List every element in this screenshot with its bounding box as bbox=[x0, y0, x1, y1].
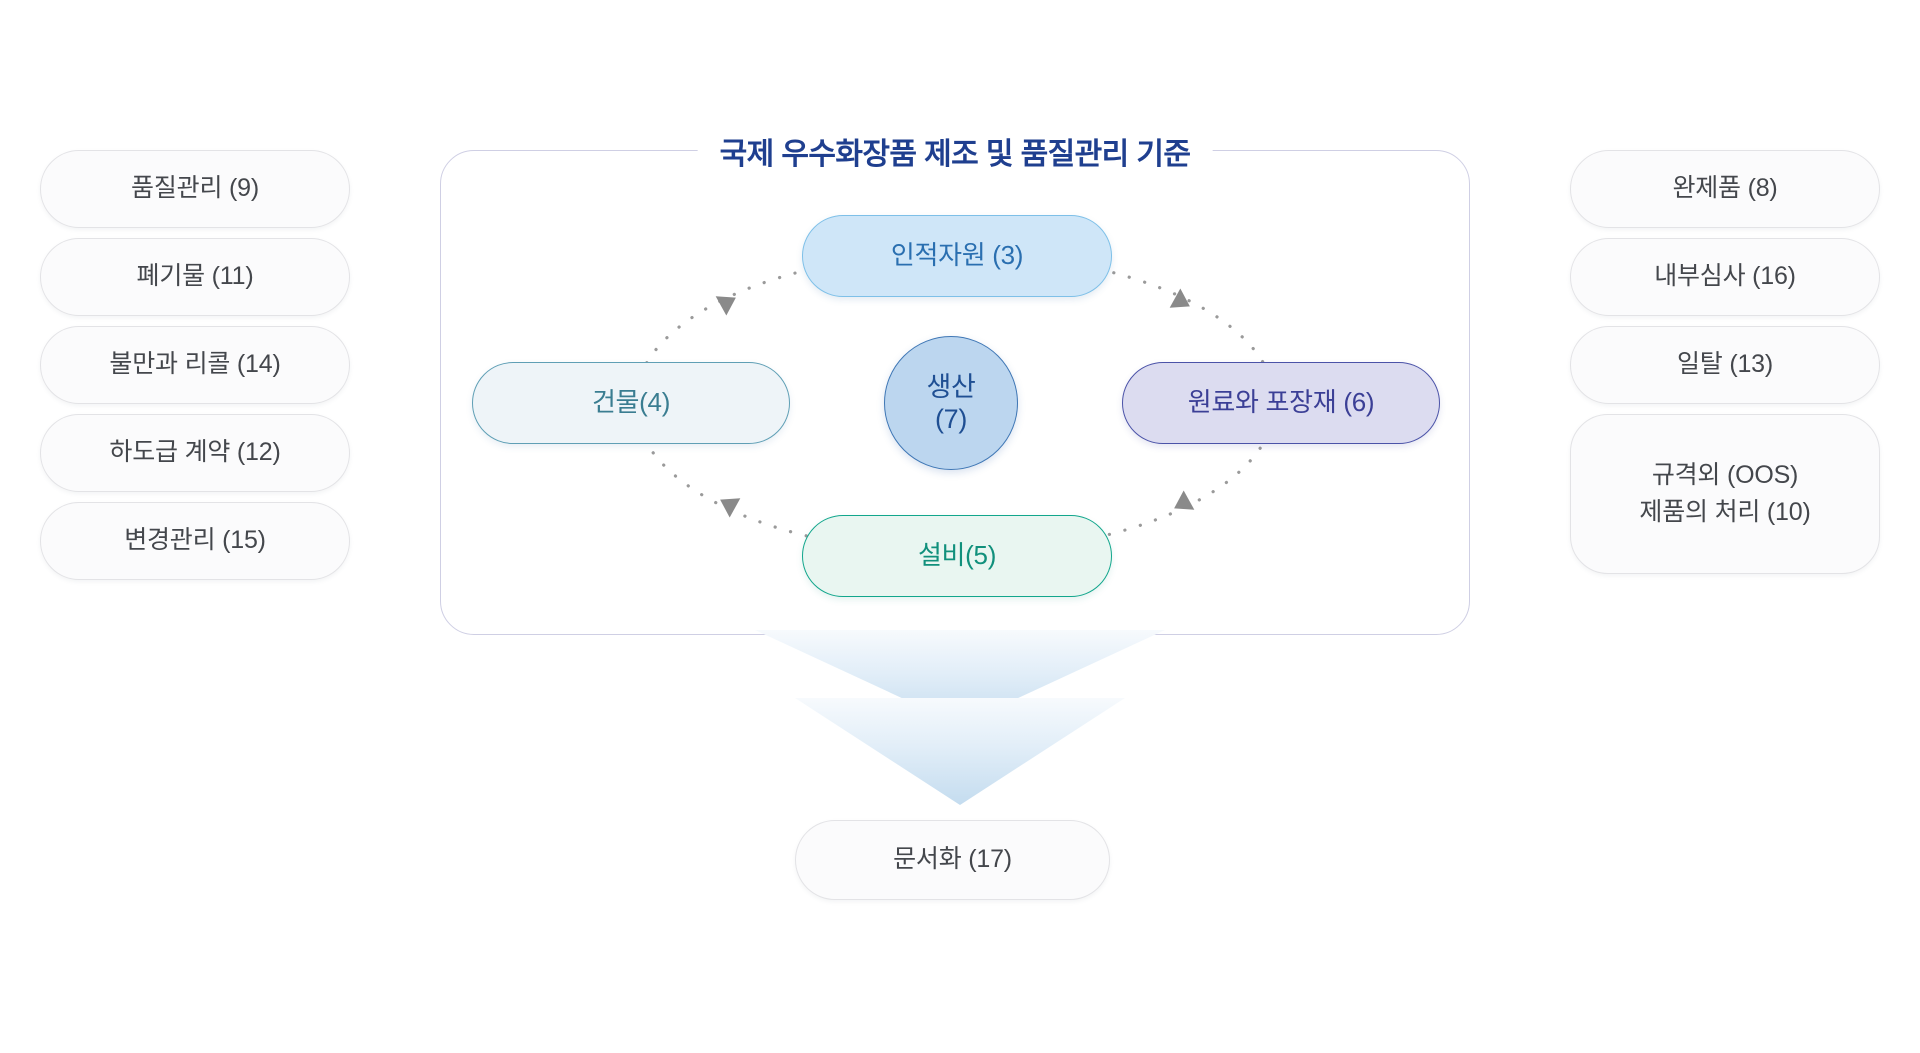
core-node-raw-material-packaging[interactable]: 원료와 포장재 (6) bbox=[1122, 362, 1440, 444]
right-item-deviation[interactable]: 일탈 (13) bbox=[1570, 326, 1880, 404]
production-line-2: (7) bbox=[935, 403, 967, 435]
core-node-production[interactable]: 생산 (7) bbox=[884, 336, 1018, 470]
oos-line-1: 규격외 (OOS) bbox=[1639, 457, 1810, 495]
core-node-building[interactable]: 건물(4) bbox=[472, 362, 790, 444]
left-item-waste[interactable]: 폐기물 (11) bbox=[40, 238, 350, 316]
flow-down-arrow-icon bbox=[755, 630, 1165, 805]
left-item-subcontract[interactable]: 하도급 계약 (12) bbox=[40, 414, 350, 492]
oos-line-2: 제품의 처리 (10) bbox=[1639, 494, 1810, 532]
right-item-oos-handling[interactable]: 규격외 (OOS) 제품의 처리 (10) bbox=[1570, 414, 1880, 574]
left-item-complaints-recall[interactable]: 불만과 리콜 (14) bbox=[40, 326, 350, 404]
left-item-change-control[interactable]: 변경관리 (15) bbox=[40, 502, 350, 580]
diagram-canvas: 품질관리 (9) 폐기물 (11) 불만과 리콜 (14) 하도급 계약 (12… bbox=[0, 0, 1920, 1053]
left-item-quality-control[interactable]: 품질관리 (9) bbox=[40, 150, 350, 228]
right-item-internal-audit[interactable]: 내부심사 (16) bbox=[1570, 238, 1880, 316]
production-line-1: 생산 bbox=[926, 371, 975, 403]
core-node-human-resources[interactable]: 인적자원 (3) bbox=[802, 215, 1112, 297]
right-item-finished-product[interactable]: 완제품 (8) bbox=[1570, 150, 1880, 228]
arrow-chevron-upper bbox=[755, 630, 1165, 725]
core-node-facility[interactable]: 설비(5) bbox=[802, 515, 1112, 597]
flow-target-documentation[interactable]: 문서화 (17) bbox=[795, 820, 1110, 900]
arrow-chevron-lower bbox=[795, 698, 1125, 805]
page-title: 국제 우수화장품 제조 및 품질관리 기준 bbox=[698, 129, 1213, 173]
